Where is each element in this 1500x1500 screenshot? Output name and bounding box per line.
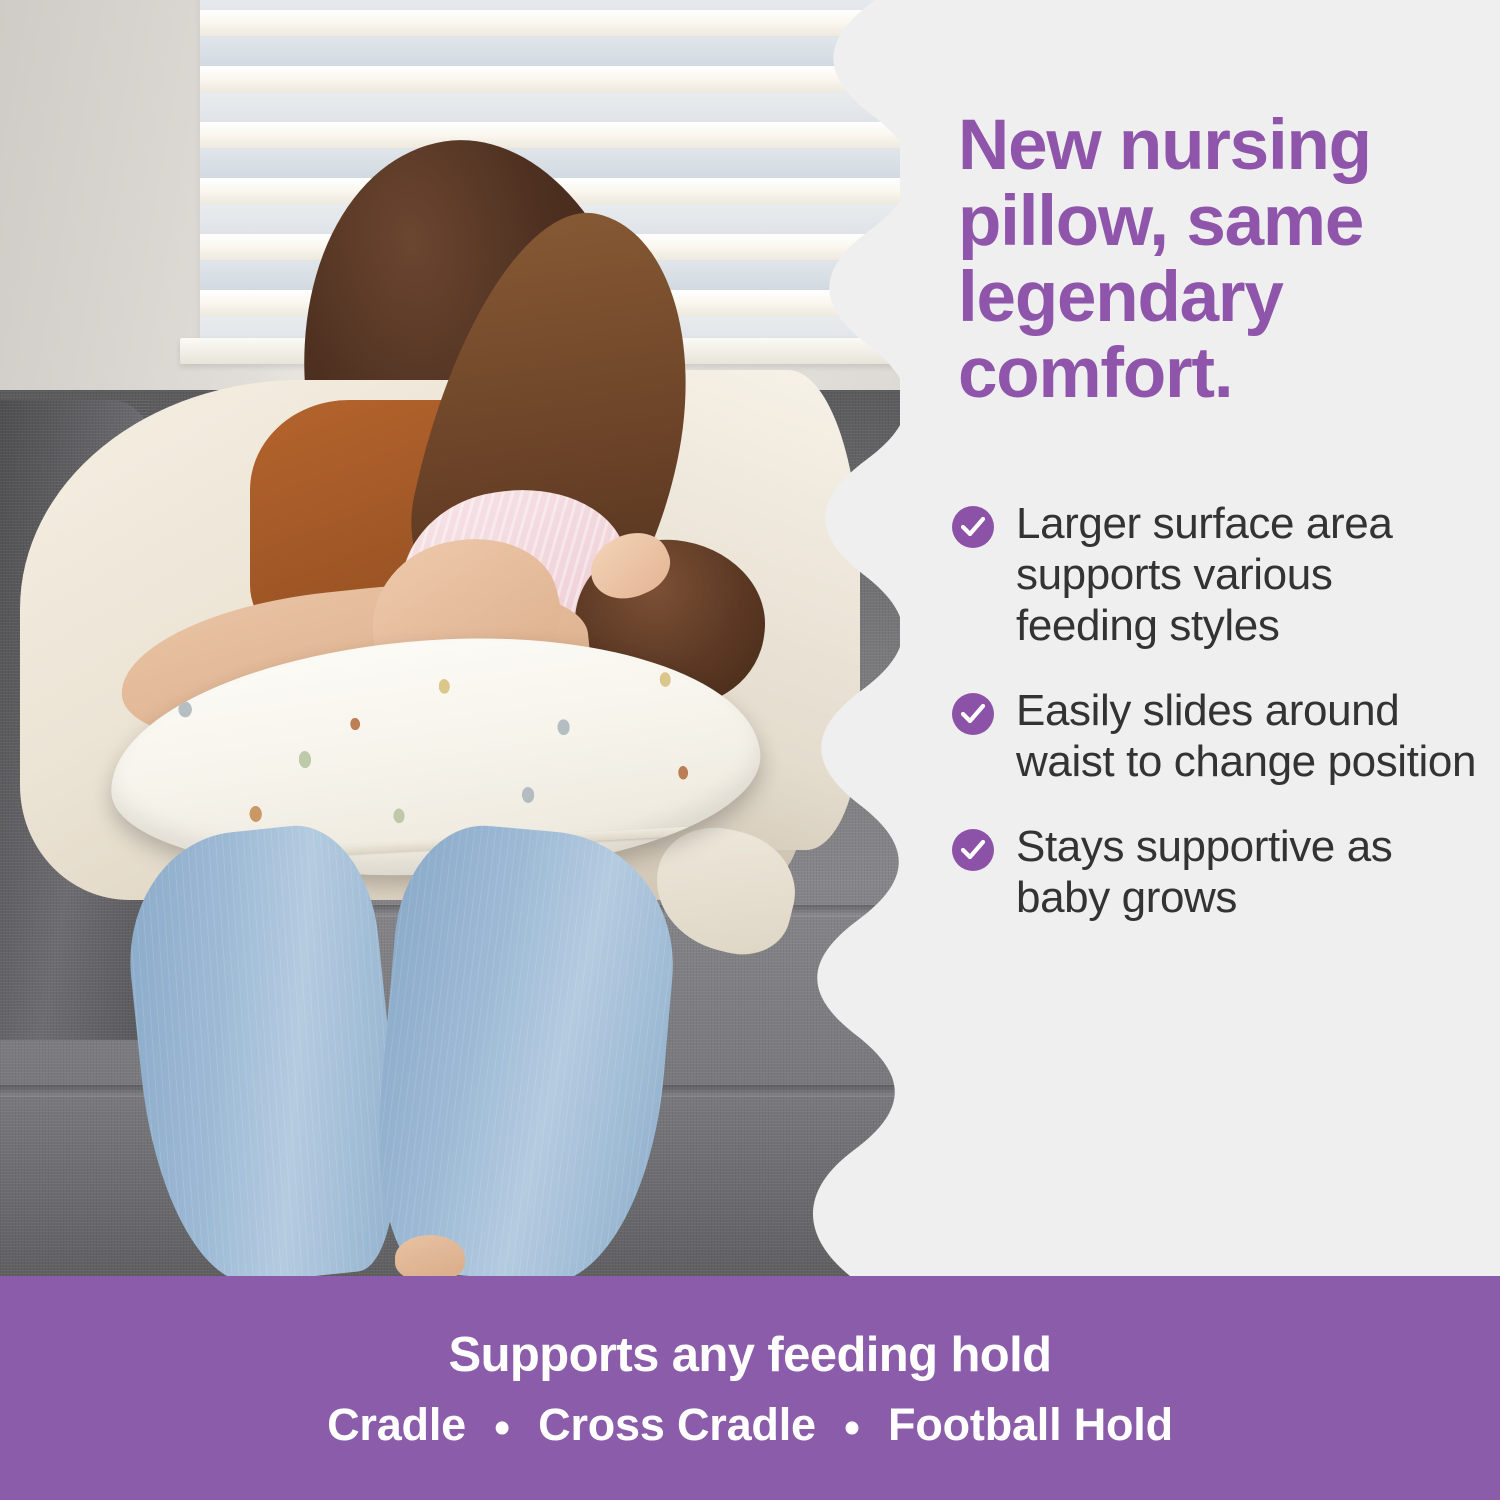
headline-line-4: comfort.: [958, 336, 1458, 412]
separator-dot: •: [844, 1402, 860, 1454]
banner-hold-list: Cradle • Cross Cradle • Football Hold: [0, 1399, 1500, 1454]
headline-line-2: pillow, same: [958, 184, 1458, 260]
page-title: New nursing pillow, same legendary comfo…: [958, 108, 1458, 412]
separator-dot: •: [494, 1402, 510, 1454]
check-circle-icon: [952, 506, 994, 548]
list-item: Stays supportive as baby grows: [952, 821, 1482, 923]
feature-text-panel: New nursing pillow, same legendary comfo…: [900, 0, 1500, 1276]
hold-football: Football Hold: [888, 1399, 1173, 1450]
list-item: Easily slides around waist to change pos…: [952, 685, 1482, 787]
feature-list: Larger surface area supports various fee…: [952, 498, 1482, 957]
list-item: Larger surface area supports various fee…: [952, 498, 1482, 651]
banner-title: Supports any feeding hold: [0, 1327, 1500, 1383]
feeding-hold-banner: Supports any feeding hold Cradle • Cross…: [0, 1276, 1500, 1500]
hold-cross-cradle: Cross Cradle: [538, 1399, 816, 1450]
feature-text: Larger surface area supports various fee…: [1016, 498, 1482, 651]
headline-line-1: New nursing: [958, 108, 1458, 184]
feature-text: Easily slides around waist to change pos…: [1016, 685, 1482, 787]
check-circle-icon: [952, 829, 994, 871]
product-feature-card: New nursing pillow, same legendary comfo…: [0, 0, 1500, 1500]
headline-line-3: legendary: [958, 260, 1458, 336]
check-circle-icon: [952, 693, 994, 735]
feature-text: Stays supportive as baby grows: [1016, 821, 1482, 923]
mother-ankle: [395, 1235, 465, 1276]
hold-cradle: Cradle: [327, 1399, 466, 1450]
